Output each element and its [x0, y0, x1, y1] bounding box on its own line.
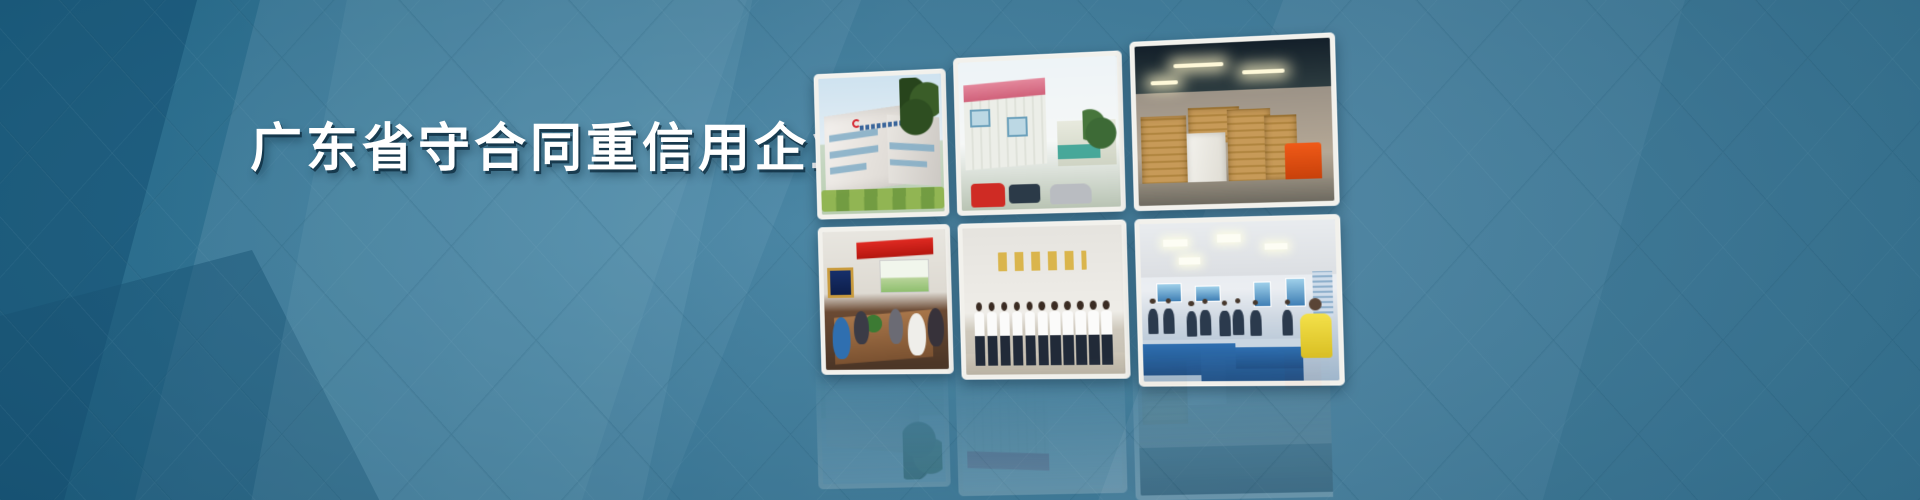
photo-warehouse: [1135, 38, 1335, 206]
photo-grid-reflection: [815, 342, 1333, 500]
company-photo-grid: [813, 33, 1335, 358]
photo-meeting-room: [822, 229, 949, 370]
lobby-wall-text: [998, 251, 1088, 272]
photo-frame-meeting-room[interactable]: [818, 224, 954, 375]
banner-headline: 广东省守合同重信用企业: [250, 123, 866, 175]
photo-plant-building: [958, 56, 1121, 211]
photo-frame-factory-exterior[interactable]: [814, 68, 950, 219]
photo-factory-exterior: [818, 73, 944, 214]
photo-frame-warehouse[interactable]: [1129, 32, 1339, 211]
company-banner: 广东省守合同重信用企业: [0, 0, 1920, 500]
photo-frame-plant-building[interactable]: [953, 50, 1126, 216]
